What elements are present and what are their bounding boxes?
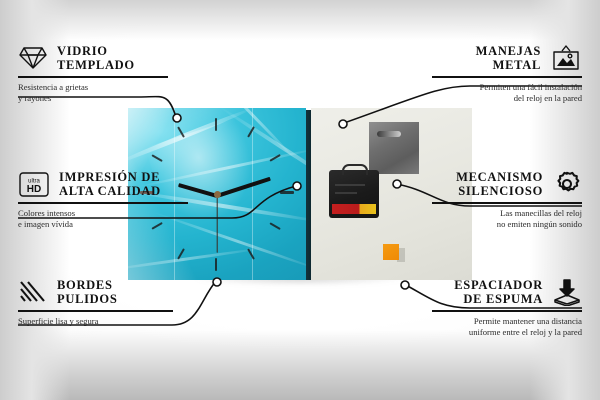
polished-edges-icon [18,279,48,305]
feature-header: ultra HD IMPRESIÓN DE ALTA CALIDAD [18,170,188,198]
title-rule [432,202,582,204]
feature-espaciador-espuma: ESPACIADOR DE ESPUMA Permite mantener un… [432,278,582,338]
feature-title: VIDRIO TEMPLADO [57,44,135,72]
movement-detail [335,184,365,186]
movement-hanger-loop [342,164,368,175]
quartz-movement [329,170,379,218]
title-rule [18,202,188,204]
svg-text:HD: HD [27,184,41,195]
hour-mark [280,191,294,194]
background-top-shade [0,0,600,40]
feature-desc: Las manecillas del reloj no emiten ningú… [432,208,582,230]
movement-label [332,204,376,214]
feature-desc: Colores intensos e imagen vívida [18,208,188,230]
feature-title: IMPRESIÓN DE ALTA CALIDAD [59,170,161,198]
second-hand [216,195,217,253]
title-rule [18,310,173,312]
feature-title: MANEJAS METAL [476,44,541,72]
clock-pivot [214,191,221,198]
feature-title: ESPACIADOR DE ESPUMA [454,278,543,306]
feature-header: MECANISMO SILENCIOSO [432,170,582,198]
title-rule [432,310,582,312]
foam-spacer-icon [552,278,582,306]
title-rule [18,76,168,78]
feature-vidrio-templado: VIDRIO TEMPLADO Resistencia a grietas y … [18,44,168,104]
background-bottom-shade [0,330,600,400]
feature-bordes-pulidos: BORDES PULIDOS Superficie lisa y segura [18,278,173,327]
feature-header: BORDES PULIDOS [18,278,173,306]
hanger-slot [377,131,401,137]
feature-desc: Resistencia a grietas y rayones [18,82,168,104]
feature-mecanismo-silencioso: MECANISMO SILENCIOSO Las manecillas del … [432,170,582,230]
metal-hanger-plate [369,122,419,174]
infographic-canvas: VIDRIO TEMPLADO Resistencia a grietas y … [0,0,600,400]
feature-header: ESPACIADOR DE ESPUMA [432,278,582,306]
feature-title: MECANISMO SILENCIOSO [456,170,543,198]
feature-impresion-alta-calidad: ultra HD IMPRESIÓN DE ALTA CALIDAD Color… [18,170,188,230]
feature-manejas-metal: MANEJAS METAL Permiten una fácil instala… [432,44,582,104]
movement-detail [335,192,357,194]
feature-title: BORDES PULIDOS [57,278,117,306]
foam-spacer [383,244,399,260]
gear-icon [552,170,582,198]
feature-desc: Superficie lisa y segura [18,316,173,327]
wall-hanging-frame-icon [550,44,582,72]
ultra-hd-icon: ultra HD [18,171,50,198]
diamond-icon [18,45,48,71]
title-rule [432,76,582,78]
feature-header: MANEJAS METAL [432,44,582,72]
feature-header: VIDRIO TEMPLADO [18,44,168,72]
feature-desc: Permiten una fácil instalación del reloj… [432,82,582,104]
feature-desc: Permite mantener una distancia uniforme … [432,316,582,338]
